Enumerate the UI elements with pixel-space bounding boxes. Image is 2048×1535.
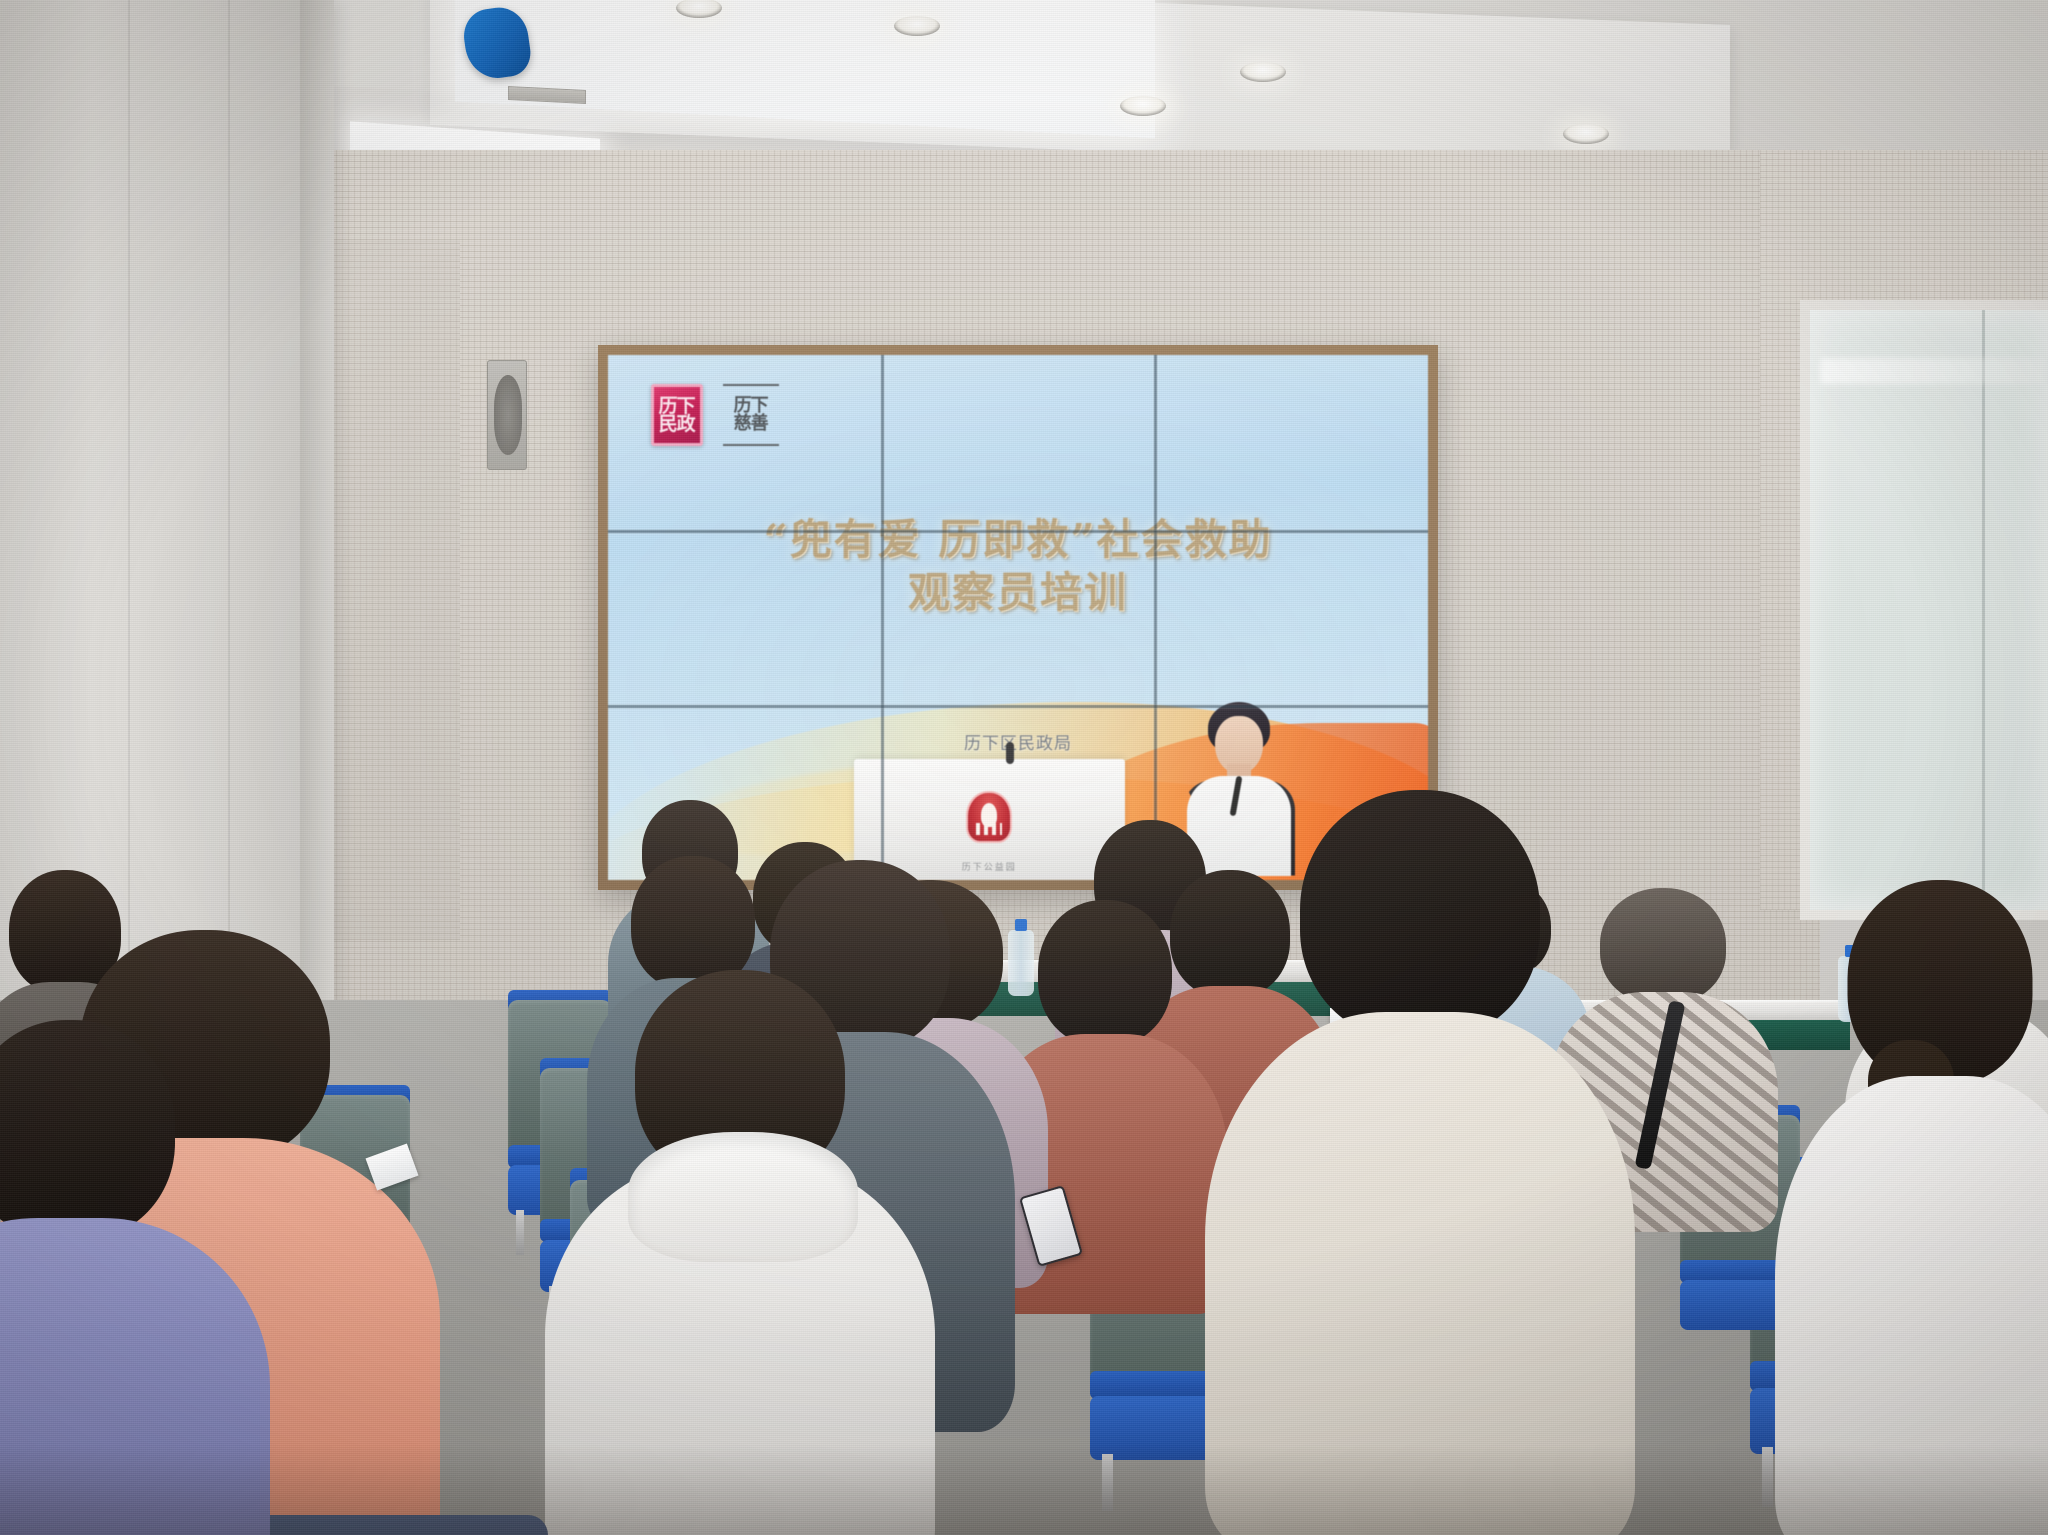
- audience-member: [1270, 790, 1570, 1535]
- screen-bezel-vertical: [1154, 355, 1157, 880]
- foreground-shadow: [0, 1445, 2048, 1535]
- lotus-emblem-icon: [966, 791, 1012, 843]
- lixia-civil-affairs-seal-icon: 历下民政: [651, 384, 703, 446]
- wall-speaker-icon: [487, 360, 527, 470]
- head: [1600, 888, 1726, 1004]
- head: [0, 1020, 175, 1240]
- slide-title-line1: “兜有爱 历即救”社会救助: [764, 515, 1273, 564]
- hood-collar: [628, 1132, 858, 1262]
- left-wall-acoustic-panel: [330, 240, 460, 940]
- podium-label: 历下公益园: [962, 860, 1017, 873]
- conference-room-photo: 历下民政 历下慈善 “兜有爱 历即救”社会救助 观察员培训 历下区民政局 202…: [0, 0, 2048, 1535]
- downlight-icon: [1120, 96, 1166, 116]
- head: [1038, 900, 1172, 1046]
- head: [1300, 790, 1540, 1040]
- slide-title: “兜有爱 历即救”社会救助 观察员培训: [608, 513, 1428, 621]
- lixia-charity-logo-icon: 历下慈善: [723, 384, 779, 446]
- downlight-icon: [1240, 62, 1286, 82]
- downlight-icon: [1563, 124, 1609, 144]
- slide-organization: 历下区民政局: [964, 734, 1072, 754]
- screen-bezel-horizontal: [608, 530, 1428, 533]
- slide-title-line2: 观察员培训: [608, 566, 1428, 620]
- microphone-icon: [1006, 742, 1014, 764]
- glass-partition: [1800, 300, 2048, 920]
- audience-member: [1820, 880, 2048, 1535]
- slide-logo-group: 历下民政 历下慈善: [651, 384, 779, 446]
- screen-bezel-horizontal: [608, 705, 1428, 708]
- screen-bezel-vertical: [881, 355, 884, 880]
- downlight-icon: [894, 16, 940, 36]
